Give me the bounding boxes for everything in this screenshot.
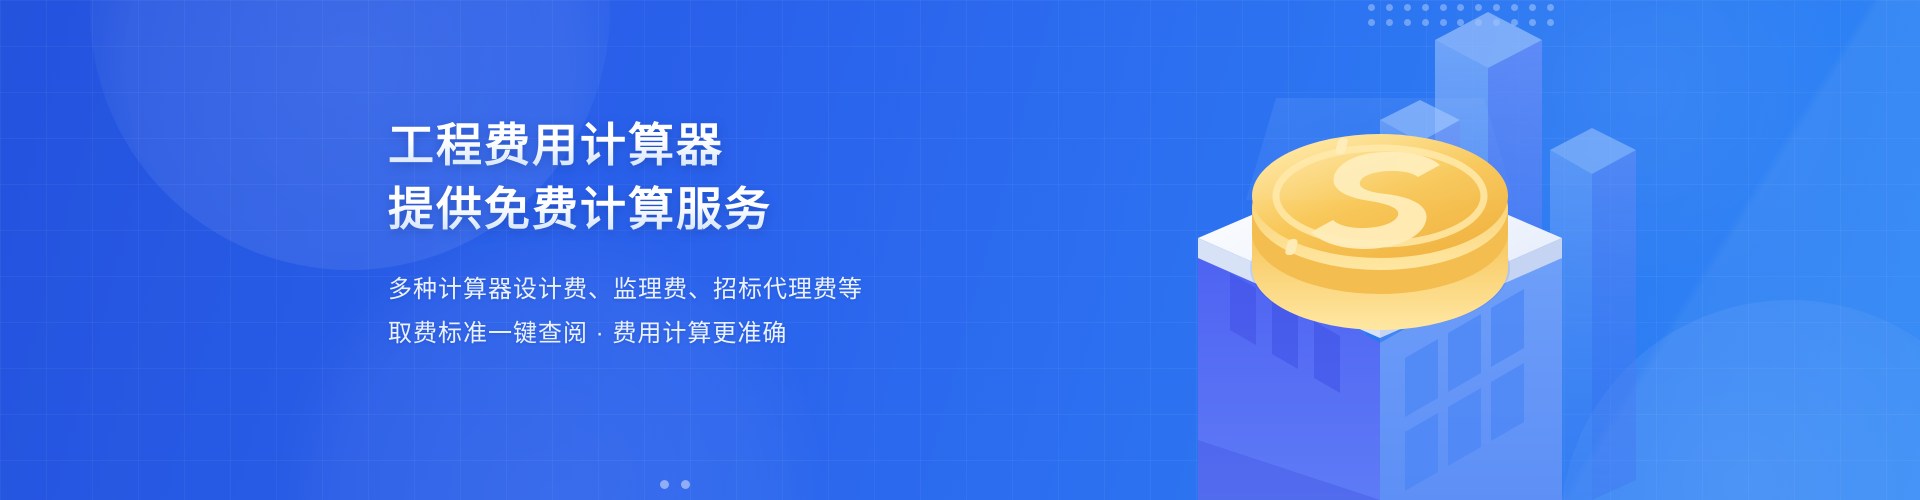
carousel-indicators[interactable]: [660, 480, 690, 489]
carousel-dot-2[interactable]: [681, 480, 690, 489]
subtitle-line-1: 多种计算器设计费、监理费、招标代理费等: [388, 268, 948, 312]
headline-line-1: 工程费用计算器: [388, 118, 948, 172]
isometric-illustration: 工程计费: [1080, 0, 1920, 500]
banner-copy: 工程费用计算器 提供免费计算服务 多种计算器设计费、监理费、招标代理费等 取费标…: [388, 118, 948, 356]
building-coin-graphic: [1080, 0, 1920, 500]
promo-banner: 工程计费 工程费用计算器 提供免费计算服务 多种计算器设计费、监理费、招标代理费…: [0, 0, 1920, 500]
carousel-dot-1[interactable]: [660, 480, 669, 489]
headline-line-2: 提供免费计算服务: [388, 182, 948, 236]
subtitle-line-2: 取费标准一键查阅 · 费用计算更准确: [388, 312, 948, 356]
light-beam: [1246, 98, 1514, 200]
subtitle-block: 多种计算器设计费、监理费、招标代理费等 取费标准一键查阅 · 费用计算更准确: [388, 268, 948, 356]
